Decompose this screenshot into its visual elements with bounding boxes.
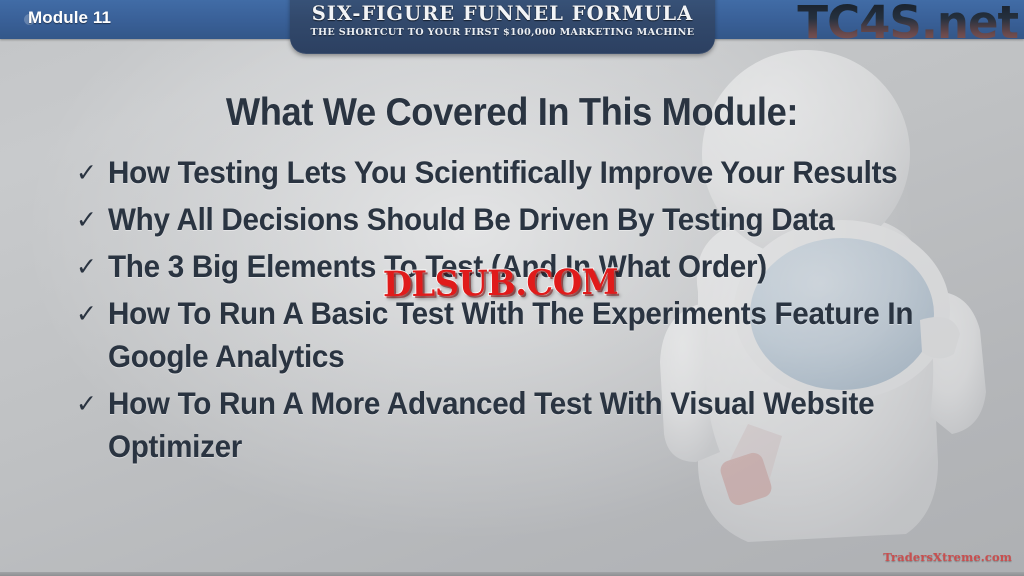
list-item: ✓ How To Run A More Advanced Test With V… [76,382,976,468]
list-item-label: How To Run A Basic Test With The Experim… [108,292,924,378]
check-icon: ✓ [76,151,108,194]
check-icon: ✓ [76,382,108,425]
check-icon: ✓ [76,245,108,288]
slide-canvas: Module 11 SIX-FIGURE FUNNEL FORMULA THE … [0,0,1024,576]
check-icon: ✓ [76,198,108,241]
site-watermark: TC4S.net [797,0,1018,49]
list-item: ✓ Why All Decisions Should Be Driven By … [76,198,976,241]
list-item-label: How To Run A More Advanced Test With Vis… [108,382,924,468]
course-logo-banner: SIX-FIGURE FUNNEL FORMULA THE SHORTCUT T… [290,0,715,54]
check-icon: ✓ [76,292,108,335]
slide-content: What We Covered In This Module: ✓ How Te… [0,39,1024,576]
bottom-watermark: TradersXtreme.com [883,550,1012,564]
page-title: What We Covered In This Module: [36,91,988,135]
logo-title: SIX-FIGURE FUNNEL FORMULA [290,2,715,25]
list-item: ✓ How To Run A Basic Test With The Exper… [76,292,976,378]
bottom-edge-divider [0,572,1024,576]
module-label: Module 11 [28,8,111,28]
bullet-list: ✓ How Testing Lets You Scientifically Im… [76,151,976,472]
list-item-label: Why All Decisions Should Be Driven By Te… [108,198,924,241]
center-watermark: DLSUB.COM [383,262,619,306]
list-item: ✓ How Testing Lets You Scientifically Im… [76,151,976,194]
logo-subtitle: THE SHORTCUT TO YOUR FIRST $100,000 MARK… [290,27,715,38]
list-item-label: How Testing Lets You Scientifically Impr… [108,151,924,194]
